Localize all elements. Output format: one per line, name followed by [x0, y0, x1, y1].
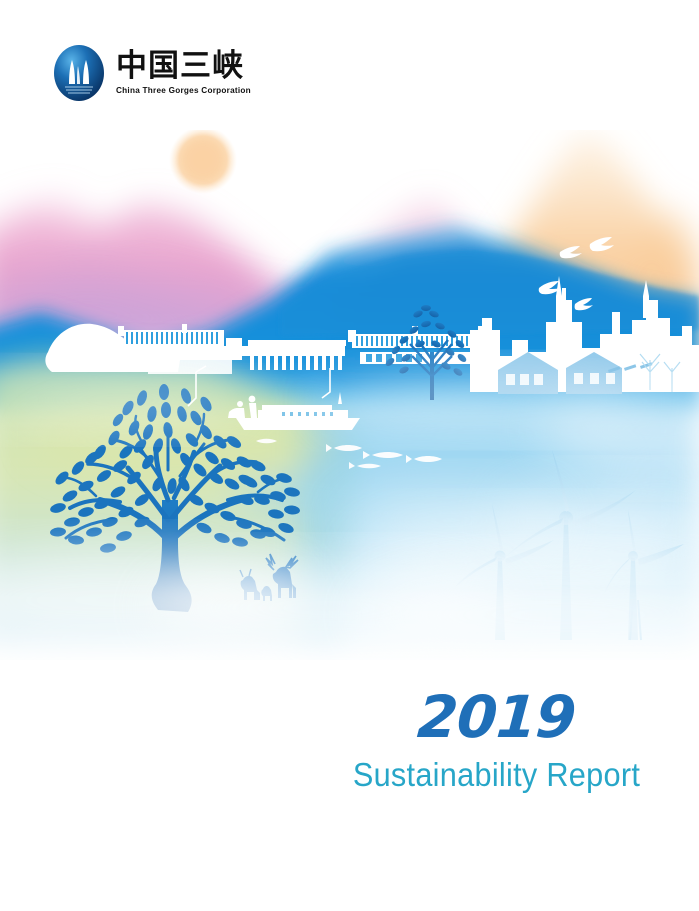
- china-three-gorges-emblem-icon: [52, 44, 106, 102]
- report-year: 2019: [340, 688, 653, 746]
- company-name-en: China Three Gorges Corporation: [116, 87, 251, 95]
- report-title: Sustainability Report: [353, 758, 640, 791]
- report-cover-page: 中国三峡 China Three Gorges Corporation 2019…: [0, 0, 699, 911]
- company-logo: 中国三峡 China Three Gorges Corporation: [52, 44, 251, 102]
- company-name-cn: 中国三峡: [116, 51, 251, 82]
- logo-wordmark: 中国三峡 China Three Gorges Corporation: [116, 51, 251, 95]
- cover-title-block: 2019 Sustainability Report: [342, 688, 651, 791]
